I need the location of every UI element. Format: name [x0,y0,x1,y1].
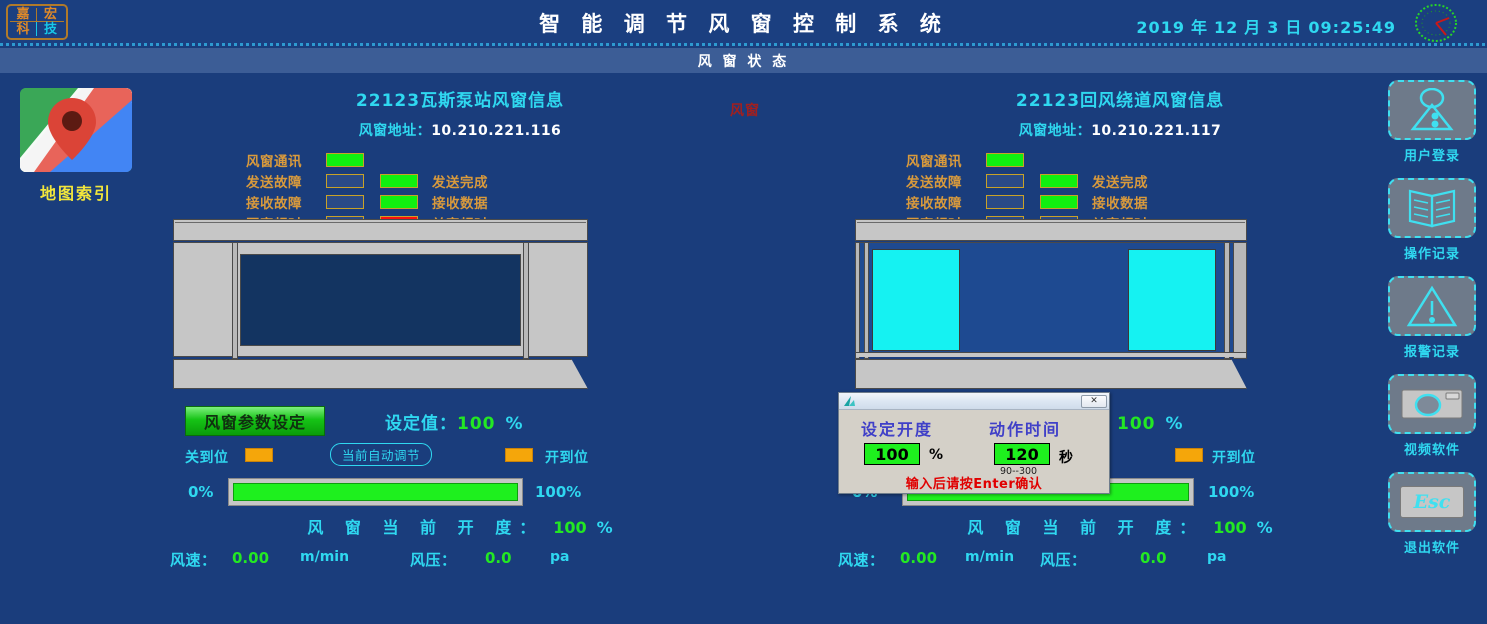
vent-base-plate [855,359,1247,389]
sidebar-label-exit-software: 退出软件 [1377,537,1487,556]
wind-speed-unit: m/min [965,549,1014,565]
vent-sill [856,352,1246,357]
indicator-row: 发送故障 发送完成 [246,170,760,191]
panel-address-left: 风窗地址：10.210.221.116 [160,120,760,140]
indicator-label: 发送故障 [246,171,318,191]
exit-software-button[interactable]: Esc [1388,472,1476,532]
vent-door-right [1128,249,1216,351]
position-indicator-row-left: 关到位 当前自动调节 开到位 [160,444,760,466]
open-position-label: 开到位 [545,447,589,467]
panel-address-right: 风窗地址：10.210.221.117 [820,120,1420,140]
setpoint-unit: % [506,414,524,434]
vent-frame [173,242,588,357]
address-value: 10.210.221.116 [431,123,561,139]
opening-progress-bar-left[interactable] [228,478,523,506]
dialog-titlebar: ✕ [839,393,1109,410]
date-month: 12 [1214,18,1238,37]
closed-position-lamp [245,448,273,462]
vent-door-left [872,249,960,351]
indicator-row: 风窗通讯 [246,149,760,170]
sidebar-label-user-login: 用户登录 [1377,145,1487,164]
vent-frame [855,242,1247,357]
warning-triangle-icon [1406,284,1458,328]
setpoint-label: 设定值： [385,414,457,434]
opening-progress-fill [233,483,518,501]
indicator-row: 发送故障 发送完成 [906,170,1420,191]
user-icon [1407,88,1457,132]
open-position-lamp [1175,448,1203,462]
vent-panel-left: 22123瓦斯泵站风窗信息 风窗地址：10.210.221.116 风窗通讯 发… [160,86,760,233]
dialog-time-header: 动作时间 [989,416,1061,440]
date-month-unit: 月 [1244,18,1261,37]
indicator-lamp-2 [1040,195,1078,209]
right-sidebar: 用户登录 操作记录 报警记录 [1377,80,1487,570]
sidebar-label-video-software: 视频软件 [1377,439,1487,458]
indicator-lamp [326,174,364,188]
wind-speed-unit: m/min [300,549,349,565]
current-opening-value: 100 [1213,518,1246,537]
indicator-label-2: 接收数据 [1092,192,1148,212]
closed-position-label: 关到位 [185,447,229,467]
setpoint-unit: % [1166,414,1184,434]
vent-post [523,242,529,359]
dialog-opening-input[interactable]: 100 [864,443,920,465]
vent-post [864,242,869,359]
sidebar-label-operation-log: 操作记录 [1377,243,1487,262]
indicator-lamp-2 [380,195,418,209]
vent-panel-right: 22123回风绕道风窗信息 风窗地址：10.210.221.117 风窗通讯 发… [820,86,1420,233]
indicator-lamp [986,153,1024,167]
date-day: 3 [1267,18,1279,37]
wind-speed-label: 风速： [170,549,217,570]
sidebar-item-alarm-log[interactable]: 报警记录 [1377,276,1487,360]
address-label: 风窗地址： [359,123,432,139]
sidebar-label-alarm-log: 报警记录 [1377,341,1487,360]
dialog-time-input[interactable]: 120 [994,443,1050,465]
vent-graphic-right [855,219,1247,389]
indicator-lamp [326,153,364,167]
open-position-label: 开到位 [1212,447,1256,467]
vent-post [232,242,238,359]
address-label: 风窗地址： [1019,123,1092,139]
set-parameters-button-left[interactable]: 风窗参数设定 [185,406,325,436]
camera-icon [1399,384,1465,424]
indicator-lamp-2 [1040,174,1078,188]
vent-post [1233,242,1247,359]
current-opening-right: 风 窗 当 前 开 度：100% [820,514,1420,538]
dialog-time-unit: 秒 [1059,447,1073,467]
setpoint-value: 100 [457,414,496,434]
wind-pressure-label: 风压： [1040,549,1087,570]
indicator-lamp [326,195,364,209]
top-bar-divider [0,43,1487,46]
sidebar-item-exit-software[interactable]: Esc 退出软件 [1377,472,1487,556]
book-icon [1404,187,1460,229]
map-index[interactable]: 地图索引 [20,88,132,204]
bar-max-label: 100% [535,483,581,501]
indicator-label: 风窗通讯 [906,150,978,170]
wind-pressure-value: 0.0 [485,549,512,567]
date-year-unit: 年 [1191,18,1208,37]
bar-max-label: 100% [1208,483,1254,501]
indicator-label: 接收故障 [246,192,318,212]
video-software-button[interactable] [1388,374,1476,434]
vent-graphic-left [173,219,588,389]
operation-log-button[interactable] [1388,178,1476,238]
vent-top-beam [855,219,1247,241]
setpoint-value: 100 [1117,414,1156,434]
alarm-log-button[interactable] [1388,276,1476,336]
current-opening-label: 风 窗 当 前 开 度： [307,518,543,537]
map-index-label: 地图索引 [20,180,132,204]
vent-opening [240,254,521,346]
indicator-label-2: 发送完成 [1092,171,1148,191]
status-band-label: 风 窗 状 态 [698,51,790,71]
current-opening-label: 风 窗 当 前 开 度： [967,518,1203,537]
current-opening-unit: % [1257,518,1273,537]
vent-post [855,242,860,359]
metrics-row-right: 风速： 0.00 m/min 风压： 0.0 pa [820,549,1420,571]
auto-mode-badge-left[interactable]: 当前自动调节 [330,443,432,466]
indicator-label: 接收故障 [906,192,978,212]
open-position-lamp [505,448,533,462]
dialog-opening-header: 设定开度 [861,416,933,440]
vent-base-plate [173,359,588,389]
indicator-label-2: 发送完成 [432,171,488,191]
analog-clock-icon [1413,3,1459,43]
map-pin-icon[interactable] [20,88,132,172]
vent-top-beam [173,219,588,241]
current-opening-unit: % [597,518,613,537]
sidebar-item-video-software[interactable]: 视频软件 [1377,374,1487,458]
setpoint-readout-left: 设定值：100% [385,409,524,434]
vent-post [1224,242,1230,359]
user-login-button[interactable] [1388,80,1476,140]
dialog-close-button[interactable]: ✕ [1081,395,1107,408]
dialog-body: 设定开度 动作时间 100 % 120 秒 90--300 输入后请按Enter… [839,410,1109,495]
sidebar-item-user-login[interactable]: 用户登录 [1377,80,1487,164]
panel-title-left: 22123瓦斯泵站风窗信息 [160,86,760,111]
wind-speed-value: 0.00 [232,549,269,567]
address-value: 10.210.221.117 [1091,123,1221,139]
dialog-opening-unit: % [929,447,943,463]
wind-speed-value: 0.00 [900,549,937,567]
indicator-label-2: 接收数据 [432,192,488,212]
wind-speed-label: 风速： [838,549,885,570]
clock-time: 09:25:49 [1308,18,1396,37]
date-day-unit: 日 [1285,18,1302,37]
esc-key-icon: Esc [1400,486,1464,518]
date-year: 2019 [1136,18,1185,37]
indicator-row: 风窗通讯 [906,149,1420,170]
sidebar-item-operation-log[interactable]: 操作记录 [1377,178,1487,262]
parameter-dialog[interactable]: ✕ 设定开度 动作时间 100 % 120 秒 90--300 输入后请按Ent… [838,392,1110,494]
indicator-row: 接收故障 接收数据 [246,191,760,212]
status-band: 风 窗 状 态 [0,48,1487,73]
wind-pressure-label: 风压： [410,549,457,570]
metrics-row-left: 风速： 0.00 m/min 风压： 0.0 pa [160,549,760,571]
bar-min-label: 0% [188,483,213,501]
panel-title-right: 22123回风绕道风窗信息 [820,86,1420,111]
indicator-row: 接收故障 接收数据 [906,191,1420,212]
opening-bar-row-left: 0% 100% [160,478,760,506]
indicator-label: 风窗通讯 [246,150,318,170]
current-opening-value: 100 [553,518,586,537]
current-opening-left: 风 窗 当 前 开 度：100% [160,514,760,538]
indicator-lamp [986,195,1024,209]
indicator-label: 发送故障 [906,171,978,191]
esc-key-label: Esc [1414,491,1451,513]
top-bar: 嘉 宏 科 技 智 能 调 节 风 窗 控 制 系 统 2019年12月3日09… [0,0,1487,45]
indicator-lamp-2 [380,174,418,188]
wind-pressure-unit: pa [1207,549,1226,565]
wind-pressure-unit: pa [550,549,569,565]
datetime-display: 2019年12月3日09:25:49 [1133,14,1399,38]
dialog-hint: 输入后请按Enter确认 [839,473,1109,492]
indicator-lamp [986,174,1024,188]
wind-pressure-value: 0.0 [1140,549,1167,567]
app-icon [843,395,856,408]
